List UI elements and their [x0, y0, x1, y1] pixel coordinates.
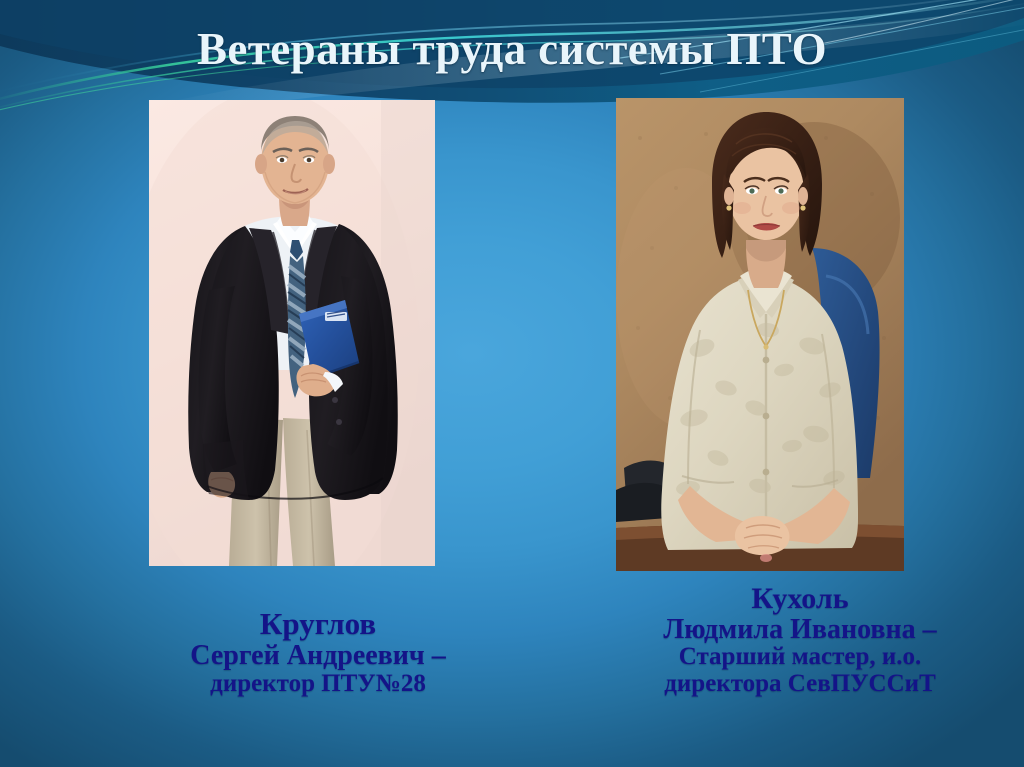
caption-kruglov-line-2: Сергей Андреевич – — [118, 641, 518, 671]
slide-title: Ветераны труда системы ПТО — [0, 25, 1024, 75]
caption-kukhol-line-1: Кухоль — [600, 583, 1000, 615]
caption-kukhol-line-2: Людмила Ивановна – — [600, 615, 1000, 645]
caption-kruglov-line-1: Круглов — [118, 608, 518, 641]
caption-kruglov: Круглов Сергей Андреевич – директор ПТУ№… — [118, 608, 518, 697]
photo-kukhol — [616, 98, 904, 571]
caption-kukhol-line-4: директора СевПУССиТ — [600, 671, 1000, 698]
caption-kukhol-line-3: Старший мастер, и.о. — [600, 644, 1000, 671]
caption-kukhol: Кухоль Людмила Ивановна – Старший мастер… — [600, 583, 1000, 697]
caption-kruglov-line-3: директор ПТУ№28 — [118, 671, 518, 698]
presentation-slide: Ветераны труда системы ПТО — [0, 0, 1024, 767]
photo-kruglov — [149, 100, 435, 566]
